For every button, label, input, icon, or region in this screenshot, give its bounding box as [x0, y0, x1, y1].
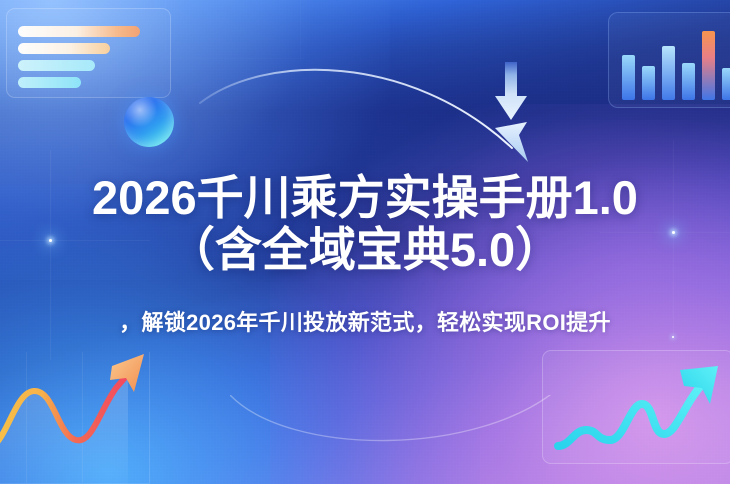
- data-row-bar-3: [18, 60, 95, 71]
- data-row-bar-1: [18, 26, 140, 37]
- down-arrow-icon: [494, 62, 528, 122]
- title-line-2: （含全域宝典5.0）: [0, 224, 730, 276]
- poster-subtitle: ，解锁2026年千川投放新范式，轻松实现ROI提升: [0, 305, 730, 337]
- bottom-decorative-arc: [230, 395, 560, 455]
- glossy-sphere: [124, 97, 174, 147]
- title-line-1: 2026千川乘方实操手册1.0: [0, 172, 730, 224]
- poster-canvas: 2026千川乘方实操手册1.0 （含全域宝典5.0） ，解锁2026年千川投放新…: [0, 0, 730, 484]
- data-row-bar-2: [18, 43, 110, 54]
- top-right-bar-chart: [620, 20, 730, 102]
- poster-title: 2026千川乘方实操手册1.0 （含全域宝典5.0）: [0, 172, 730, 276]
- data-row-bar-4: [18, 77, 81, 88]
- bottom-right-growth-zigzag: [552, 358, 730, 460]
- bottom-left-growth-line: [0, 348, 188, 484]
- curved-arrow: [195, 55, 545, 180]
